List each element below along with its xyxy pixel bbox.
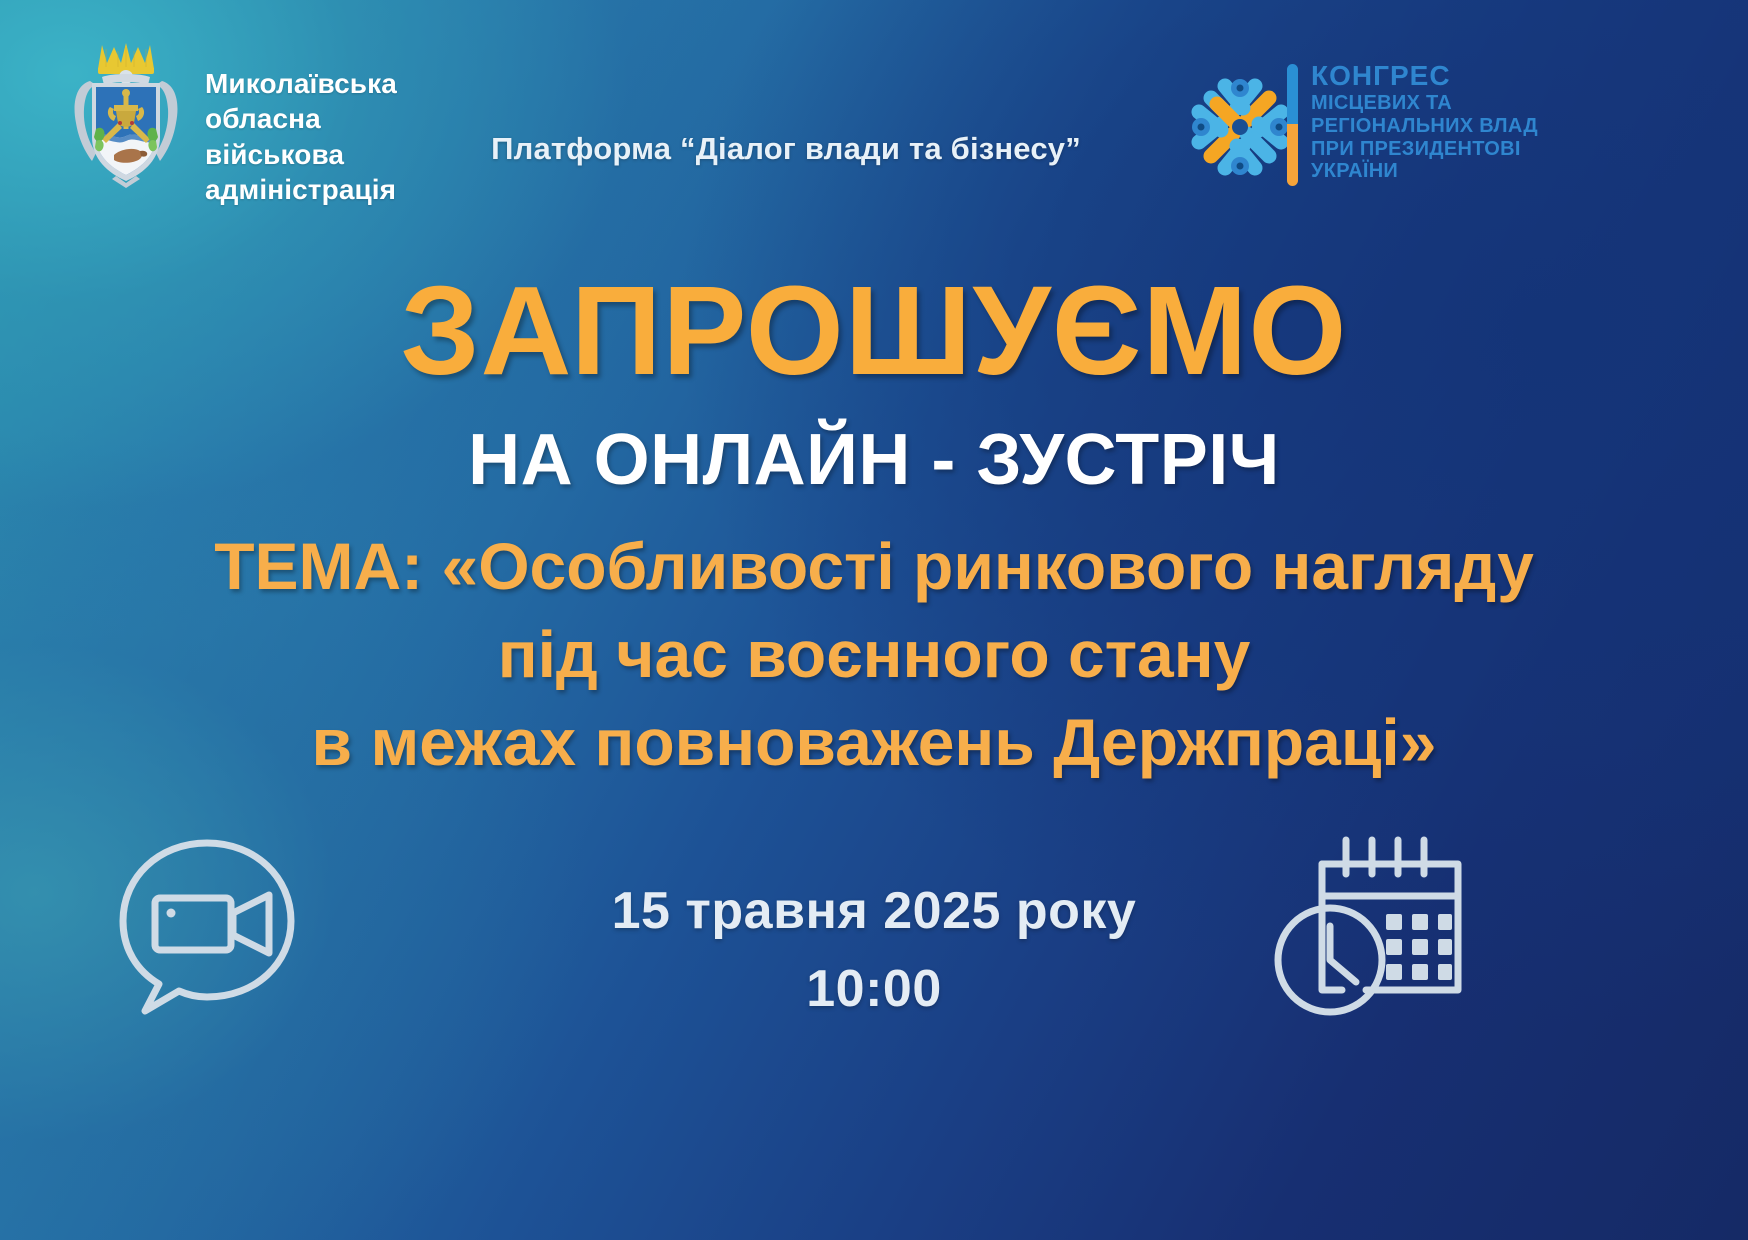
oda-title: Миколаївська обласна військова адміністр… bbox=[205, 66, 397, 207]
oda-title-line-3: військова bbox=[205, 137, 397, 172]
oda-title-line-1: Миколаївська bbox=[205, 66, 397, 101]
congress-line-1: КОНГРЕС bbox=[1311, 60, 1538, 92]
event-date: 15 травня 2025 року bbox=[0, 872, 1748, 950]
invitation-poster: Миколаївська обласна військова адміністр… bbox=[0, 0, 1748, 1240]
theme-block: ТЕМА: «Особливості ринкового нагляду під… bbox=[0, 523, 1748, 786]
oda-title-line-2: обласна bbox=[205, 101, 397, 136]
congress-line-4: ПРИ ПРЕЗИДЕНТОВІ bbox=[1311, 138, 1538, 161]
congress-line-5: УКРАЇНИ bbox=[1311, 160, 1538, 183]
congress-title: КОНГРЕС МІСЦЕВИХ ТА РЕГІОНАЛЬНИХ ВЛАД ПР… bbox=[1311, 60, 1538, 183]
platform-title: Платформа “Діалог влади та бізнесу” bbox=[436, 131, 1136, 167]
event-datetime: 15 травня 2025 року 10:00 bbox=[0, 872, 1748, 1028]
congress-flower-mark-icon bbox=[1181, 68, 1299, 186]
poster-header: Миколаївська обласна військова адміністр… bbox=[0, 0, 1748, 215]
coat-of-arms-icon bbox=[62, 33, 190, 188]
event-time: 10:00 bbox=[0, 950, 1748, 1028]
congress-divider bbox=[1287, 64, 1298, 186]
subheadline: НА ОНЛАЙН - ЗУСТРІЧ bbox=[0, 424, 1748, 496]
oda-title-line-4: адміністрація bbox=[205, 172, 397, 207]
congress-line-3: РЕГІОНАЛЬНИХ ВЛАД bbox=[1311, 115, 1538, 138]
theme-line-2: під час воєнного стану bbox=[0, 611, 1748, 699]
headline: ЗАПРОШУЄМО bbox=[0, 268, 1748, 394]
calendar-clock-icon bbox=[1262, 822, 1482, 1022]
theme-line-1: ТЕМА: «Особливості ринкового нагляду bbox=[0, 523, 1748, 611]
congress-line-2: МІСЦЕВИХ ТА bbox=[1311, 92, 1538, 115]
congress-logo: КОНГРЕС МІСЦЕВИХ ТА РЕГІОНАЛЬНИХ ВЛАД ПР… bbox=[1181, 58, 1721, 193]
theme-line-3: в межах повноважень Держпраці» bbox=[0, 699, 1748, 787]
